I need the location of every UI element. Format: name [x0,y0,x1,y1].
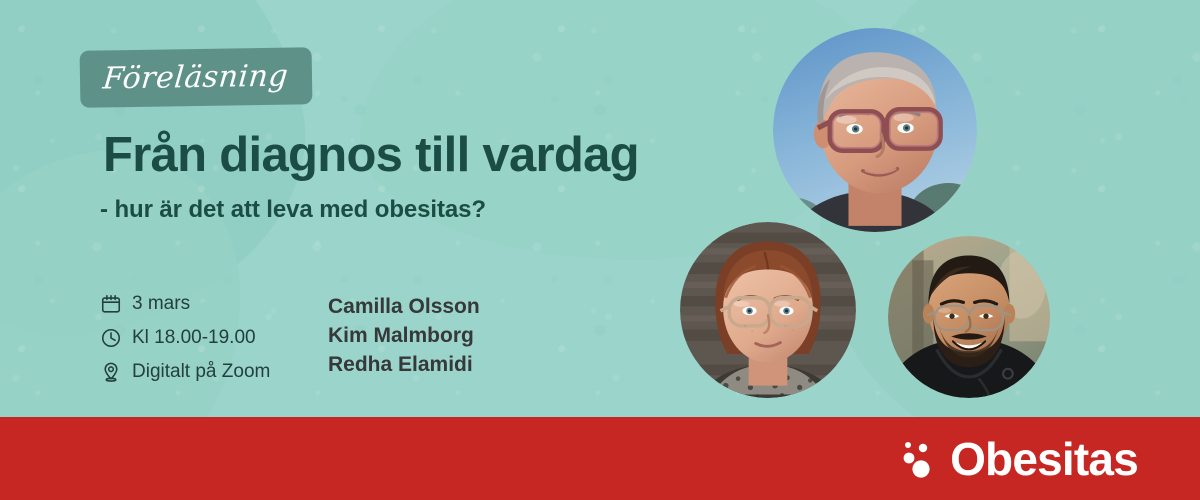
event-banner: Föreläsning Från diagnos till vardag - h… [0,0,1200,500]
portrait-top [773,28,977,232]
location-pin-icon [100,361,122,383]
dot-cluster-icon [898,437,940,481]
detail-time: Kl 18.00-19.00 [100,322,270,353]
portrait-left [680,222,856,398]
footer-bar: Obesitas [0,417,1200,500]
speaker-list: Camilla Olsson Kim Malmborg Redha Elamid… [328,292,480,379]
clock-icon [100,327,122,349]
speaker-name: Camilla Olsson [328,292,480,321]
page-title: Från diagnos till vardag [103,127,639,183]
speaker-name: Kim Malmborg [328,321,480,350]
detail-date-label: 3 mars [132,293,190,315]
category-badge-label: Föreläsning [102,59,290,97]
detail-location-label: Digitalt på Zoom [132,361,270,383]
speaker-name: Redha Elamidi [328,350,480,379]
obesitas-logo: Obesitas [898,436,1138,482]
detail-time-label: Kl 18.00-19.00 [132,327,256,349]
calendar-icon [100,293,122,315]
category-badge: Föreläsning [80,47,313,108]
event-details: 3 mars Kl 18.00-19.00 Digitalt på Zoom [100,288,270,390]
detail-location: Digitalt på Zoom [100,356,270,387]
logo-wordmark: Obesitas [950,436,1138,482]
page-subtitle: - hur är det att leva med obesitas? [100,196,486,224]
detail-date: 3 mars [100,288,270,319]
portrait-right [888,236,1050,398]
